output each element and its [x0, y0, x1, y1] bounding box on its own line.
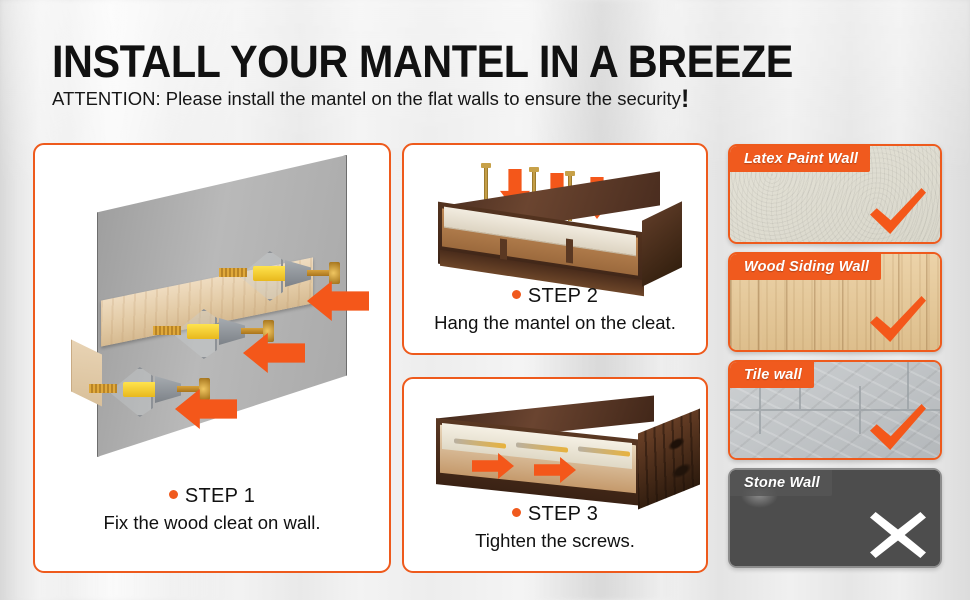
step-2-description: Hang the mantel on the cleat.: [404, 312, 706, 334]
right-arrow-icon: [534, 457, 576, 483]
left-arrow-icon: [175, 389, 237, 429]
step-2-panel[interactable]: STEP 2 Hang the mantel on the cleat.: [402, 143, 708, 355]
mantel-right-end: [642, 201, 682, 287]
wall-type-label: Wood Siding Wall: [730, 254, 881, 280]
attention-note: ATTENTION: Please install the mantel on …: [52, 88, 689, 110]
step-2-caption: STEP 2 Hang the mantel on the cleat.: [404, 285, 706, 334]
step-2-label-row: STEP 2: [404, 285, 706, 308]
step-1-caption: STEP 1 Fix the wood cleat on wall.: [35, 485, 389, 534]
attention-text: ATTENTION: Please install the mantel on …: [52, 88, 681, 109]
cross-icon: [870, 512, 926, 558]
wall-type-card-tile[interactable]: Tile wall: [728, 360, 942, 460]
anchor-tip-icon: [153, 326, 181, 335]
step-bullet-icon: [169, 490, 178, 499]
wall-type-card-wood-siding[interactable]: Wood Siding Wall: [728, 252, 942, 352]
step-3-illustration: [432, 397, 694, 517]
right-arrow-icon: [472, 453, 514, 479]
step-1-description: Fix the wood cleat on wall.: [35, 512, 389, 534]
step-bullet-icon: [512, 508, 521, 517]
check-icon: [870, 296, 926, 342]
mantel-right-end: [638, 408, 700, 509]
anchor-tip-icon: [219, 268, 247, 277]
step-3-panel[interactable]: STEP 3 Tighten the screws.: [402, 377, 708, 573]
anchor-tip-icon: [89, 384, 117, 393]
infographic-stage: INSTALL YOUR MANTEL IN A BREEZE ATTENTIO…: [0, 0, 970, 600]
attention-exclamation: !: [681, 85, 689, 113]
left-arrow-icon: [243, 333, 305, 373]
wall-type-card-stone[interactable]: Stone Wall: [728, 468, 942, 568]
check-icon: [870, 404, 926, 450]
step-2-illustration: [428, 167, 686, 295]
check-icon: [870, 188, 926, 234]
step-1-illustration: [35, 151, 389, 481]
step-1-panel[interactable]: STEP 1 Fix the wood cleat on wall.: [33, 143, 391, 573]
wall-type-label: Tile wall: [730, 362, 814, 388]
wall-type-label: Stone Wall: [730, 470, 832, 496]
wall-type-card-latex-paint[interactable]: Latex Paint Wall: [728, 144, 942, 244]
step-3-description: Tighten the screws.: [404, 530, 706, 552]
page-title: INSTALL YOUR MANTEL IN A BREEZE: [52, 36, 793, 88]
step-1-label-row: STEP 1: [35, 485, 389, 508]
wall-type-label: Latex Paint Wall: [730, 146, 870, 172]
step-3-caption: STEP 3 Tighten the screws.: [404, 503, 706, 552]
step-bullet-icon: [512, 290, 521, 299]
left-arrow-icon: [307, 281, 369, 321]
step-1-label: STEP 1: [185, 485, 255, 507]
step-2-label: STEP 2: [528, 285, 598, 307]
step-3-label-row: STEP 3: [404, 503, 706, 526]
mantel-divider: [566, 238, 573, 263]
step-3-label: STEP 3: [528, 503, 598, 525]
